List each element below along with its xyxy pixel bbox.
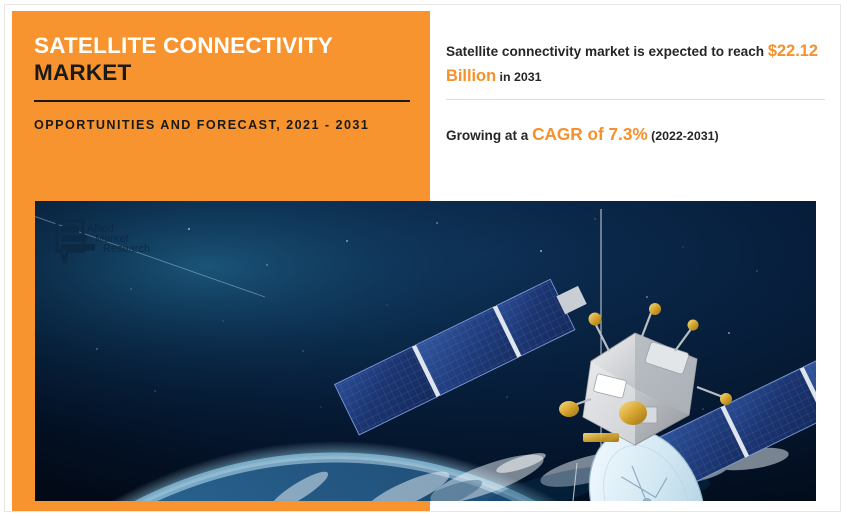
stats-panel: Satellite connectivity market is expecte… xyxy=(439,11,835,193)
report-subtitle: OPPORTUNITIES AND FORECAST, 2021 - 2031 xyxy=(34,115,412,135)
title-divider xyxy=(34,100,410,102)
stats-divider xyxy=(446,99,825,100)
stat-cagr: Growing at a CAGR of 7.3% (2022-2031) xyxy=(446,121,828,147)
stat-cagr-value: CAGR of 7.3% xyxy=(532,124,648,144)
amr-logo-mark: Allied Market Research xyxy=(53,217,165,267)
stat-cagr-suffix: (2022-2031) xyxy=(648,129,719,143)
stat-market-size: Satellite connectivity market is expecte… xyxy=(446,39,828,89)
allied-market-research-logo: Allied Market Research xyxy=(53,217,165,267)
amr-logo-line-3: Research xyxy=(103,243,150,255)
stat-market-size-prefix: Satellite connectivity market is expecte… xyxy=(446,44,768,59)
stat-market-size-suffix: in 2031 xyxy=(496,70,541,84)
stat-cagr-prefix: Growing at a xyxy=(446,128,532,143)
page-title-line-2: MARKET xyxy=(34,60,409,87)
page-title-line-1: SATELLITE CONNECTIVITY xyxy=(34,33,409,60)
infographic-card: SATELLITE CONNECTIVITY MARKET OPPORTUNIT… xyxy=(4,4,841,512)
page-title: SATELLITE CONNECTIVITY MARKET xyxy=(34,33,409,87)
hero-satellite-image: Allied Market Research xyxy=(35,201,816,501)
